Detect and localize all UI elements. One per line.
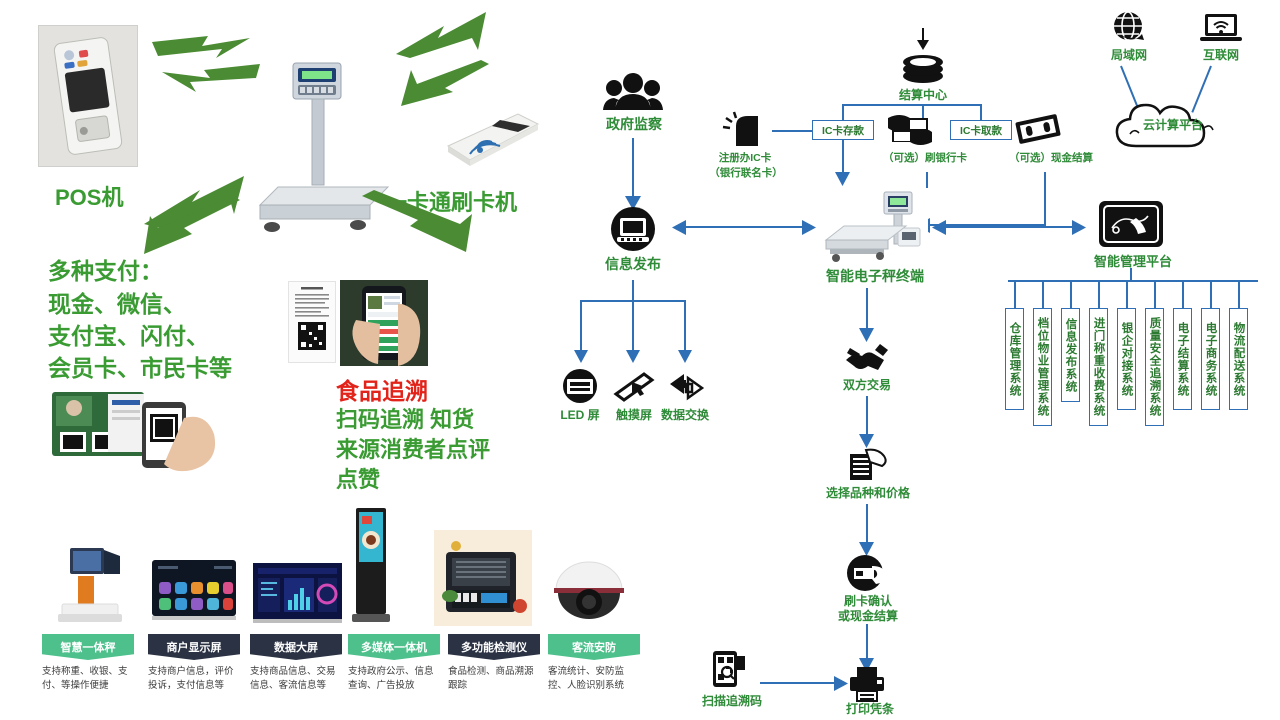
- product-image-dome-camera: [548, 556, 630, 626]
- touch-screen-icon: [614, 368, 654, 404]
- green-arrow-scale-to-payment: [128, 196, 248, 258]
- product-badge-1: 智慧一体秤: [42, 634, 134, 660]
- payment-line-2: 支付宝、闪付、: [48, 317, 209, 351]
- settlement-center-icon: [900, 54, 946, 84]
- bank-card-label: （可选）刷银行卡: [870, 152, 980, 165]
- sysline-4: [1126, 280, 1128, 308]
- register-ic-label-1: 注册办IC卡: [700, 152, 790, 165]
- line-scale-to-step1: [866, 288, 868, 332]
- mgmt-platform-icon: [1098, 200, 1164, 248]
- system-box-7[interactable]: 电子商务系统: [1201, 308, 1220, 410]
- pos-machine-photo: [38, 25, 138, 167]
- payment-heading: 多种支付：: [48, 252, 163, 286]
- arrowhead-deposit-to-scale: [835, 172, 850, 186]
- arrowhead-to-mgmt: [1072, 220, 1086, 235]
- lan-label: 局域网: [1100, 48, 1158, 63]
- info-release-icon: [610, 206, 656, 252]
- cloud-label: 云计算平台: [1128, 118, 1218, 133]
- step-2-label: 选择品种和价格: [814, 486, 922, 501]
- data-exchange-label: 数据交换: [654, 408, 716, 423]
- step-4-label: 打印凭条: [836, 702, 904, 717]
- line-info-down: [632, 280, 634, 302]
- line-step2-to-step3: [866, 504, 868, 546]
- pos-label: POS机: [55, 180, 123, 212]
- register-ic-label-2: （银行联名卡）: [696, 167, 796, 180]
- arrowhead-step2: [859, 434, 874, 448]
- arrowhead-scan-to-print: [834, 676, 848, 691]
- line-out-2: [632, 300, 634, 352]
- trace-line-2: 来源消费者点评: [336, 432, 490, 464]
- printer-icon: [846, 666, 888, 702]
- lan-icon: [1110, 10, 1146, 46]
- system-box-5[interactable]: 质量安全追溯系统: [1145, 308, 1164, 426]
- card-reader-photo: [440, 100, 540, 170]
- sysline-0: [1014, 280, 1016, 308]
- system-box-4[interactable]: 银企对接系统: [1117, 308, 1136, 410]
- trace-line-3: 点赞: [336, 462, 380, 494]
- payment-line-3: 会员卡、市民卡等: [48, 349, 232, 383]
- select-list-icon: [848, 448, 888, 482]
- arrowhead-out-3: [678, 350, 692, 363]
- step-3-label-1: 刷卡确认 或现金结算: [820, 594, 916, 624]
- scan-trace-label: 扫描追溯码: [692, 694, 772, 709]
- sysline-8: [1238, 280, 1240, 308]
- led-screen-icon: [560, 368, 600, 404]
- systems-group: 仓库管理系统 档位物业管理系统 信息发布系统 进门称重收费系统 银企对接系统 质…: [1000, 280, 1270, 430]
- trace-line-1: 扫码追溯 知货: [336, 402, 474, 434]
- bank-card-icon: [886, 112, 934, 148]
- internet-icon: [1200, 12, 1242, 44]
- line-deposit-to-scale: [842, 140, 844, 176]
- green-arrow-reader-to-scale: [385, 60, 495, 110]
- green-arrow-scale-to-trace: [360, 190, 480, 260]
- payment-line-1: 现金、微信、: [48, 285, 186, 319]
- line-out-1: [580, 300, 582, 352]
- green-arrow-scale-to-pos: [148, 58, 263, 104]
- system-box-6[interactable]: 电子结算系统: [1173, 308, 1192, 410]
- arrowhead-to-scale-left: [802, 220, 816, 235]
- product-desc-6: 客流统计、安防监控、人脸识别系统: [548, 665, 640, 694]
- step-1-label: 双方交易: [834, 378, 900, 393]
- line-scale-to-mgmt: [944, 226, 1074, 228]
- arrowhead-step1: [859, 328, 874, 342]
- system-box-8[interactable]: 物流配送系统: [1229, 308, 1248, 410]
- sysline-3: [1098, 280, 1100, 308]
- led-screen-label: LED 屏: [552, 408, 608, 423]
- arrowhead-out-2: [626, 350, 640, 363]
- product-badge-3: 数据大屏: [250, 634, 342, 660]
- sysline-1: [1042, 280, 1044, 308]
- system-box-0[interactable]: 仓库管理系统: [1005, 308, 1024, 410]
- line-gov-to-info: [632, 138, 634, 200]
- product-card-1: 智慧一体秤 支持称重、收银、支付、等操作便捷: [42, 634, 134, 694]
- tablet-phone-photo: [46, 384, 231, 474]
- info-release-label: 信息发布: [594, 256, 672, 274]
- product-card-3: 数据大屏 支持商品信息、交易信息、客流信息等: [250, 634, 342, 694]
- trace-phone-photo: [340, 280, 428, 366]
- arrowhead-mgmt-to-scale: [932, 220, 946, 235]
- product-desc-4: 支持政府公示、信息查询、广告投放: [348, 665, 440, 694]
- trace-title: 食品追溯: [336, 372, 428, 406]
- product-card-4: 多媒体一体机 支持政府公示、信息查询、广告投放: [348, 634, 440, 694]
- product-badge-2: 商户显示屏: [148, 634, 240, 660]
- product-image-smart-scale-pos: [48, 540, 132, 625]
- product-desc-5: 食品检测、商品溯源跟踪: [448, 665, 540, 694]
- gov-supervision-icon: [602, 72, 664, 110]
- system-box-1[interactable]: 档位物业管理系统: [1033, 308, 1052, 426]
- data-exchange-icon: [664, 370, 708, 402]
- scan-trace-icon: [712, 650, 746, 690]
- swipe-card-icon: [846, 554, 888, 592]
- sysline-5: [1154, 280, 1156, 308]
- register-ic-icon: [722, 112, 764, 148]
- internet-label: 互联网: [1192, 48, 1250, 63]
- system-box-2[interactable]: 信息发布系统: [1061, 308, 1080, 402]
- line-settle-bus: [842, 104, 982, 106]
- sysline-7: [1210, 280, 1212, 308]
- scale-terminal-label: 智能电子秤终端: [800, 268, 950, 286]
- product-image-merchant-display: [148, 556, 240, 626]
- settlement-center-arrow: [916, 28, 930, 50]
- product-card-5: 多功能检测仪 食品检测、商品溯源跟踪: [448, 634, 540, 694]
- line-info-to-scale: [684, 226, 804, 228]
- ic-withdraw-box[interactable]: IC卡取款: [950, 120, 1012, 140]
- product-desc-2: 支持商户信息，评价投诉，支付信息等: [148, 665, 240, 694]
- line-step1-to-step2: [866, 396, 868, 438]
- product-image-data-dashboard: [250, 560, 345, 626]
- product-image-kiosk: [348, 506, 394, 626]
- handshake-icon: [844, 342, 890, 372]
- product-badge-4: 多媒体一体机: [348, 634, 440, 660]
- scale-terminal-photo: [818, 188, 928, 266]
- ic-deposit-box[interactable]: IC卡存款: [812, 120, 874, 140]
- settlement-center-label: 结算中心: [890, 88, 956, 103]
- line-cash-down: [1044, 172, 1046, 226]
- arrowhead-out-1: [574, 350, 588, 363]
- arrowhead-to-info-release: [672, 220, 686, 235]
- product-desc-1: 支持称重、收银、支付、等操作便捷: [42, 665, 134, 694]
- product-badge-6: 客流安防: [548, 634, 640, 660]
- product-card-6: 客流安防 客流统计、安防监控、人脸识别系统: [548, 634, 640, 694]
- line-scan-to-print: [760, 682, 838, 684]
- cash-settle-label: （可选）现金结算: [996, 152, 1106, 165]
- sysline-6: [1182, 280, 1184, 308]
- product-badge-5: 多功能检测仪: [448, 634, 540, 660]
- line-step3-to-step4: [866, 624, 868, 662]
- line-to-deposit: [842, 104, 844, 120]
- gov-supervision-label: 政府监察: [592, 116, 676, 134]
- system-box-3[interactable]: 进门称重收费系统: [1089, 308, 1108, 426]
- product-desc-3: 支持商品信息、交易信息、客流信息等: [250, 665, 342, 694]
- sysline-2: [1070, 280, 1072, 308]
- touch-screen-label: 触摸屏: [608, 408, 660, 423]
- line-to-withdraw: [980, 104, 982, 120]
- green-arrow-scale-to-reader: [390, 10, 500, 58]
- line-out-3: [684, 300, 686, 352]
- receipt-photo: [288, 281, 336, 363]
- cash-icon: [1014, 112, 1062, 146]
- mgmt-platform-label: 智能管理平台: [1088, 254, 1178, 270]
- product-image-detector-case: [434, 530, 532, 626]
- product-card-2: 商户显示屏 支持商户信息，评价投诉，支付信息等: [148, 634, 240, 694]
